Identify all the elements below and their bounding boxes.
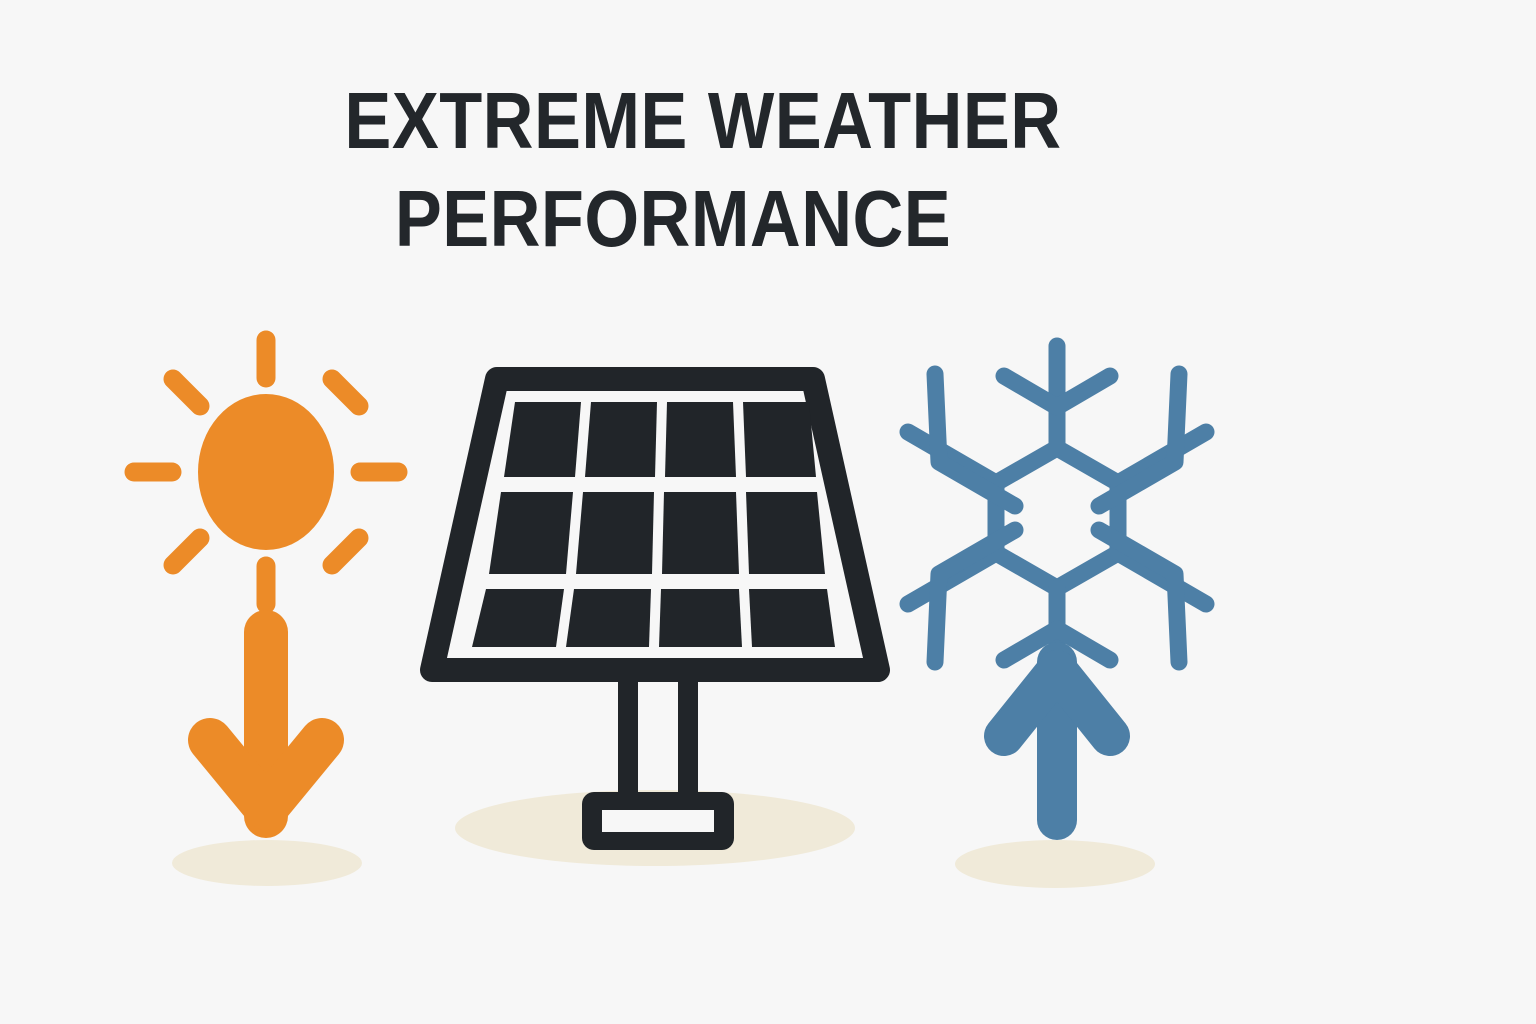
panel-base — [582, 792, 734, 850]
panel-cell — [665, 402, 736, 477]
panel-cell — [489, 492, 573, 574]
heat-stress-group — [146, 330, 390, 840]
title-line-2: PERFORMANCE — [0, 170, 1432, 268]
panel-cell — [504, 402, 581, 477]
cold-stress-group — [932, 336, 1182, 846]
panel-cell — [576, 492, 654, 574]
panel-post-left-leg — [618, 670, 638, 798]
panel-cells-row-2 — [489, 492, 825, 574]
snowflake-icon — [908, 346, 1206, 690]
panel-post-right-leg — [678, 670, 698, 798]
ground-shadow-left — [172, 840, 362, 886]
panel-cell — [659, 589, 742, 647]
panel-cell — [472, 589, 564, 647]
ground-shadow-right — [955, 840, 1155, 888]
snowflake-hex-core — [996, 448, 1118, 588]
sun-body-icon — [198, 394, 334, 550]
panel-cell — [662, 492, 739, 574]
panel-cell — [566, 589, 651, 647]
page-title: EXTREME WEATHER PERFORMANCE — [0, 72, 1536, 268]
panel-cell — [743, 402, 816, 477]
snowflake-cold-icon-svg — [932, 336, 1182, 846]
panel-post — [618, 670, 698, 798]
panel-cell — [746, 492, 825, 574]
panel-cells-row-1 — [504, 402, 816, 477]
infographic-canvas: EXTREME WEATHER PERFORMANCE — [0, 0, 1536, 1024]
panel-cell — [749, 589, 835, 647]
panel-cells-row-3 — [472, 589, 835, 647]
solar-panel-icon-svg — [420, 352, 900, 852]
sun-heat-icon-svg — [146, 330, 390, 840]
panel-cell — [585, 402, 657, 477]
arrow-down-icon — [210, 632, 322, 816]
solar-panel-group — [420, 352, 900, 852]
title-line-1: EXTREME WEATHER — [0, 72, 1436, 170]
panel-base-slot — [602, 810, 714, 832]
arrow-up-icon — [1004, 662, 1110, 820]
